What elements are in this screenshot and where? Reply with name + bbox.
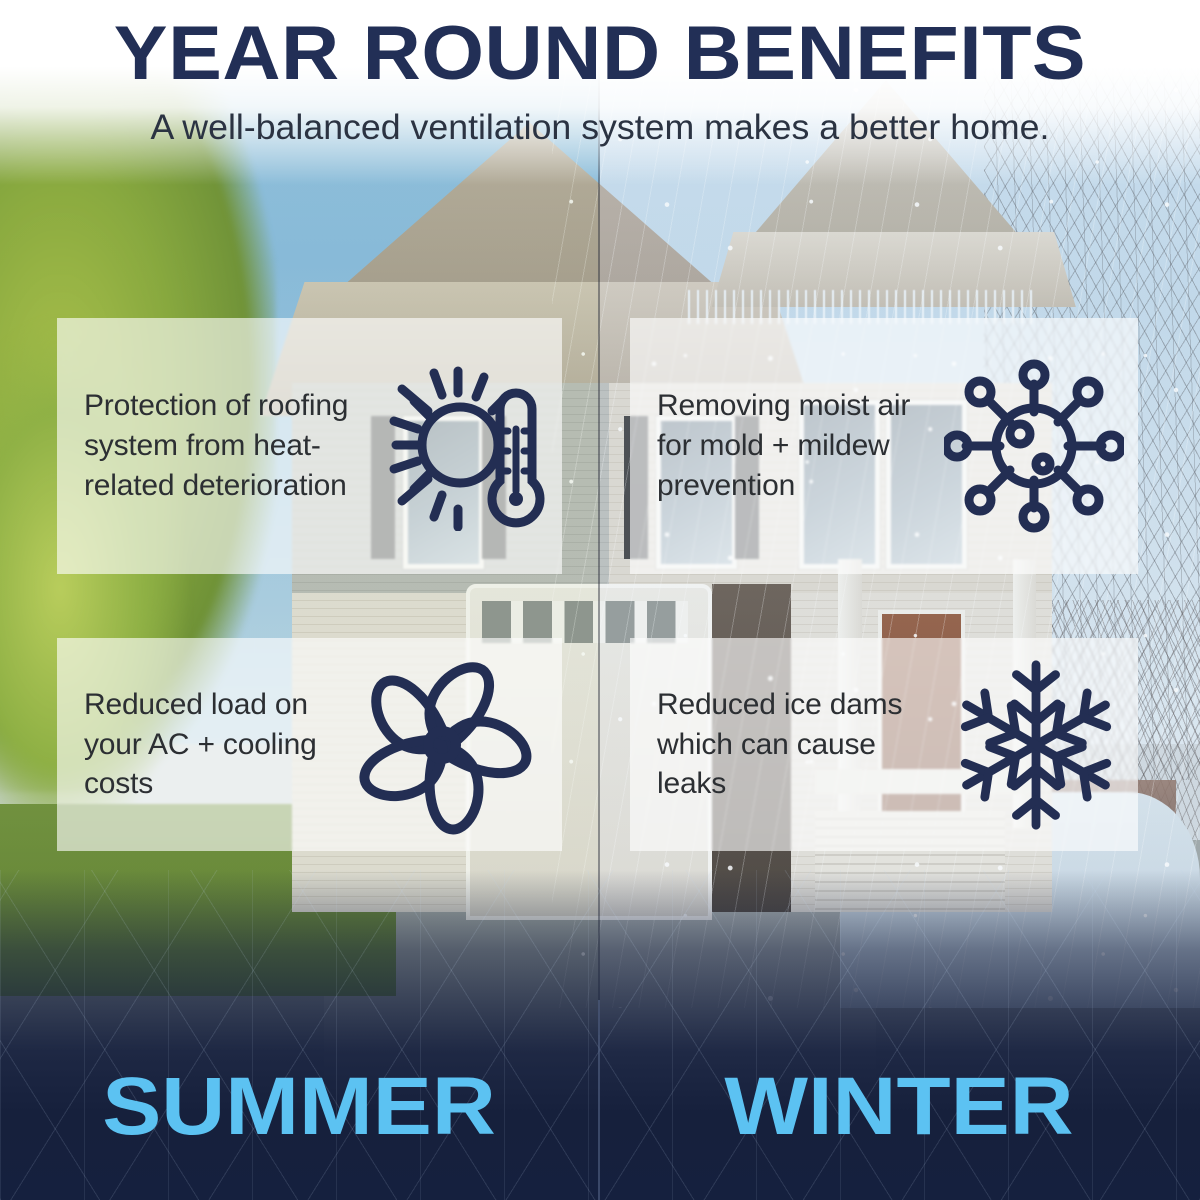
benefit-card-reduced-ice-dams[interactable]: Reduced ice dams which can cause leaks [630,638,1138,851]
benefit-card-removing-moist-air[interactable]: Removing moist air for mold + mildew pre… [630,318,1138,574]
page-title: YEAR ROUND BENEFITS [0,16,1200,92]
benefit-card-protection-of-roofing-system[interactable]: Protection of roofing system from heat-r… [57,318,562,574]
snowflake-icon [933,657,1138,833]
benefit-card-reduced-ac-load[interactable]: Reduced load on your AC + cooling costs [57,638,562,851]
mold-germ-icon [929,356,1138,536]
benefit-text: Reduced ice dams which can cause leaks [630,685,933,805]
page-subtitle: A well-balanced ventilation system makes… [0,110,1200,145]
infographic-canvas: YEAR ROUND BENEFITS A well-balanced vent… [0,0,1200,1200]
sun-thermometer-icon [384,361,562,531]
benefit-text: Removing moist air for mold + mildew pre… [630,386,929,506]
season-label-winter: WINTER [574,1066,1200,1148]
season-label-summer: SUMMER [0,1066,622,1148]
fan-propeller-icon [322,655,562,835]
benefit-text: Protection of roofing system from heat-r… [57,386,384,506]
benefit-text: Reduced load on your AC + cooling costs [57,685,322,805]
